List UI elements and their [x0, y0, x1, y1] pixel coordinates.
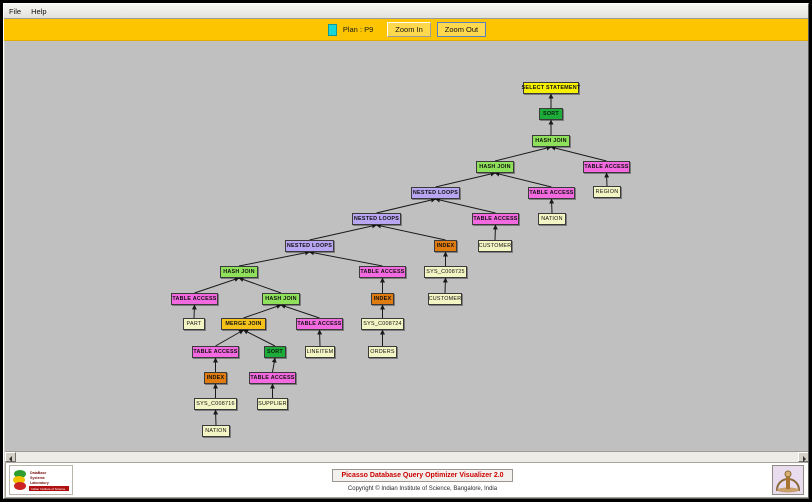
plan-node-label: NESTED LOOPS — [354, 216, 399, 222]
plan-node-merge-n25[interactable]: MERGE JOIN — [221, 318, 266, 330]
svg-text:DataBase: DataBase — [30, 471, 46, 475]
plan-toolbar: Plan : P9 Zoom In Zoom Out — [4, 19, 809, 41]
zoom-in-button[interactable]: Zoom In — [387, 22, 431, 37]
plan-node-index-n14[interactable]: INDEX — [434, 240, 457, 252]
plan-edge-n27-n26 — [320, 330, 321, 346]
plan-edge-n22-n17 — [195, 278, 240, 293]
plan-edge-n26-n24 — [281, 305, 320, 318]
plan-node-label: TABLE ACCESS — [297, 321, 341, 327]
application-window: File Help Plan : P9 Zoom In Zoom Out — [0, 0, 812, 502]
plan-node-label: TABLE ACCESS — [529, 190, 573, 196]
plan-node-hashjoin-n3[interactable]: HASH JOIN — [532, 135, 570, 147]
plan-tree-canvas[interactable]: SELECT STATEMENTSORTHASH JOINHASH JOINTA… — [5, 41, 809, 451]
zoom-out-button[interactable]: Zoom Out — [437, 22, 486, 37]
plan-node-label: NESTED LOOPS — [287, 243, 332, 249]
plan-node-table-n11[interactable]: TABLE ACCESS — [472, 213, 519, 225]
window-frame: File Help Plan : P9 Zoom In Zoom Out — [3, 3, 809, 499]
plan-edge-n28-n25 — [216, 330, 244, 346]
plan-node-label: TABLE ACCESS — [360, 269, 404, 275]
svg-text:Laboratory: Laboratory — [30, 481, 49, 485]
plan-node-leaf-n9[interactable]: NATION — [538, 213, 566, 225]
plan-node-label: PART — [187, 321, 202, 327]
plan-edge-n16-n15 — [445, 278, 446, 293]
plan-node-label: MERGE JOIN — [225, 321, 261, 327]
plan-color-swatch — [328, 24, 337, 36]
plan-edge-n17-n13 — [239, 252, 310, 266]
plan-node-label: TABLE ACCESS — [250, 375, 294, 381]
plan-node-leaf-n32[interactable]: SYS_C008716 — [194, 398, 237, 410]
copyright-text: Copyright © Indian Institute of Science,… — [348, 486, 497, 492]
plan-edge-n4-n3 — [495, 147, 551, 161]
plan-node-table-n22[interactable]: TABLE ACCESS — [171, 293, 218, 305]
dsl-logo-icon: DataBase Systems Laboratory Indian Insti… — [9, 465, 73, 495]
scrollbar-track[interactable] — [16, 452, 798, 462]
plan-edge-n34-n32 — [216, 410, 217, 425]
plan-edge-n11-n7 — [436, 199, 496, 213]
plan-node-label: HASH JOIN — [535, 138, 567, 144]
plan-node-hashjoin-n4[interactable]: HASH JOIN — [476, 161, 514, 173]
plan-node-label: CUSTOMER — [479, 243, 512, 249]
plan-node-table-n26[interactable]: TABLE ACCESS — [296, 318, 343, 330]
plan-edge-n31-n29 — [273, 358, 276, 372]
plan-node-label: HASH JOIN — [265, 296, 297, 302]
plan-edge-n10-n7 — [377, 199, 436, 213]
plan-node-label: SYS_C008716 — [196, 401, 234, 407]
plan-node-label: TABLE ACCESS — [193, 349, 237, 355]
plan-node-table-n18[interactable]: TABLE ACCESS — [359, 266, 406, 278]
scroll-right-arrow-icon[interactable] — [798, 452, 809, 462]
plan-node-table-n28[interactable]: TABLE ACCESS — [192, 346, 239, 358]
plan-node-label: NATION — [205, 428, 226, 434]
plan-node-nested-n13[interactable]: NESTED LOOPS — [285, 240, 334, 252]
plan-node-sort-n29[interactable]: SORT — [264, 346, 286, 358]
plan-edge-n14-n10 — [377, 225, 446, 240]
plan-tree-edges — [5, 41, 809, 451]
plan-edge-n7-n4 — [436, 173, 496, 187]
plan-node-hashjoin-n17[interactable]: HASH JOIN — [220, 266, 258, 278]
plan-node-index-n19[interactable]: INDEX — [371, 293, 394, 305]
plan-node-leaf-n27[interactable]: LINEITEM — [305, 346, 335, 358]
plan-node-label: TABLE ACCESS — [473, 216, 517, 222]
plan-edge-n18-n13 — [310, 252, 383, 266]
plan-node-label: NATION — [541, 216, 562, 222]
plan-edge-n13-n10 — [310, 225, 377, 240]
iisc-logo-graphic — [773, 466, 803, 494]
plan-edge-n9-n8 — [552, 199, 553, 213]
plan-node-label: LINEITEM — [307, 349, 334, 355]
plan-node-label: SORT — [267, 349, 283, 355]
plan-node-label: INDEX — [374, 296, 392, 302]
plan-label: Plan : P9 — [343, 25, 373, 34]
plan-node-label: HASH JOIN — [223, 269, 255, 275]
plan-node-label: INDEX — [207, 375, 225, 381]
plan-edge-n29-n25 — [244, 330, 276, 346]
plan-node-leaf-n16[interactable]: CUSTOMER — [428, 293, 462, 305]
footer-bar: DataBase Systems Laboratory Indian Insti… — [5, 462, 809, 498]
svg-text:Indian Institute of Science: Indian Institute of Science — [31, 487, 66, 491]
plan-node-label: TABLE ACCESS — [172, 296, 216, 302]
dsl-logo-graphic: DataBase Systems Laboratory Indian Insti… — [10, 466, 72, 494]
scroll-left-arrow-icon[interactable] — [5, 452, 16, 462]
plan-node-label: INDEX — [437, 243, 455, 249]
plan-node-table-n31[interactable]: TABLE ACCESS — [249, 372, 296, 384]
plan-node-label: HASH JOIN — [479, 164, 511, 170]
plan-edge-n24-n17 — [239, 278, 281, 293]
plan-node-label: SYS_C008725 — [426, 269, 464, 275]
plan-tree-viewport: SELECT STATEMENTSORTHASH JOINHASH JOINTA… — [5, 41, 809, 451]
plan-node-table-n5[interactable]: TABLE ACCESS — [583, 161, 630, 173]
plan-edge-n12-n11 — [495, 225, 496, 240]
plan-node-leaf-n15[interactable]: SYS_C008725 — [424, 266, 467, 278]
plan-node-label: NESTED LOOPS — [413, 190, 458, 196]
plan-node-hashjoin-n24[interactable]: HASH JOIN — [262, 293, 300, 305]
plan-node-table-n8[interactable]: TABLE ACCESS — [528, 187, 575, 199]
plan-node-sort-n2[interactable]: SORT — [539, 108, 563, 120]
plan-node-label: SYS_C008724 — [363, 321, 401, 327]
plan-node-label: SUPPLIER — [258, 401, 287, 407]
plan-node-index-n30[interactable]: INDEX — [204, 372, 227, 384]
plan-node-leaf-n23[interactable]: PART — [183, 318, 205, 330]
footer-center: Picasso Database Query Optimizer Visuali… — [73, 469, 772, 492]
plan-node-label: CUSTOMER — [429, 296, 462, 302]
plan-node-nested-n10[interactable]: NESTED LOOPS — [352, 213, 401, 225]
plan-node-label: REGION — [596, 189, 619, 195]
menu-bar: File Help — [4, 4, 809, 19]
plan-node-label: TABLE ACCESS — [584, 164, 628, 170]
plan-node-label: ORDERS — [370, 349, 395, 355]
horizontal-scrollbar[interactable] — [5, 451, 809, 462]
plan-node-label: SORT — [543, 111, 559, 117]
plan-edge-n6-n5 — [607, 173, 608, 186]
plan-node-nested-n7[interactable]: NESTED LOOPS — [411, 187, 460, 199]
plan-node-leaf-n34[interactable]: NATION — [202, 425, 230, 437]
plan-edge-n5-n3 — [551, 147, 607, 161]
plan-edge-n25-n24 — [244, 305, 282, 318]
plan-node-leaf-n33[interactable]: SUPPLIER — [257, 398, 288, 410]
menu-file[interactable]: File — [4, 5, 26, 18]
plan-edge-n23-n22 — [194, 305, 195, 318]
plan-node-leaf-n21[interactable]: ORDERS — [368, 346, 397, 358]
plan-node-leaf-n20[interactable]: SYS_C008724 — [361, 318, 404, 330]
iisc-logo-icon — [772, 465, 804, 495]
menu-help[interactable]: Help — [26, 5, 51, 18]
plan-node-select-n1[interactable]: SELECT STATEMENT — [523, 82, 579, 94]
plan-node-leaf-n6[interactable]: REGION — [593, 186, 621, 198]
plan-node-label: SELECT STATEMENT — [522, 85, 581, 91]
plan-node-leaf-n12[interactable]: CUSTOMER — [478, 240, 512, 252]
app-title: Picasso Database Query Optimizer Visuali… — [332, 469, 512, 482]
plan-edge-n8-n4 — [495, 173, 552, 187]
svg-text:Systems: Systems — [30, 476, 45, 480]
